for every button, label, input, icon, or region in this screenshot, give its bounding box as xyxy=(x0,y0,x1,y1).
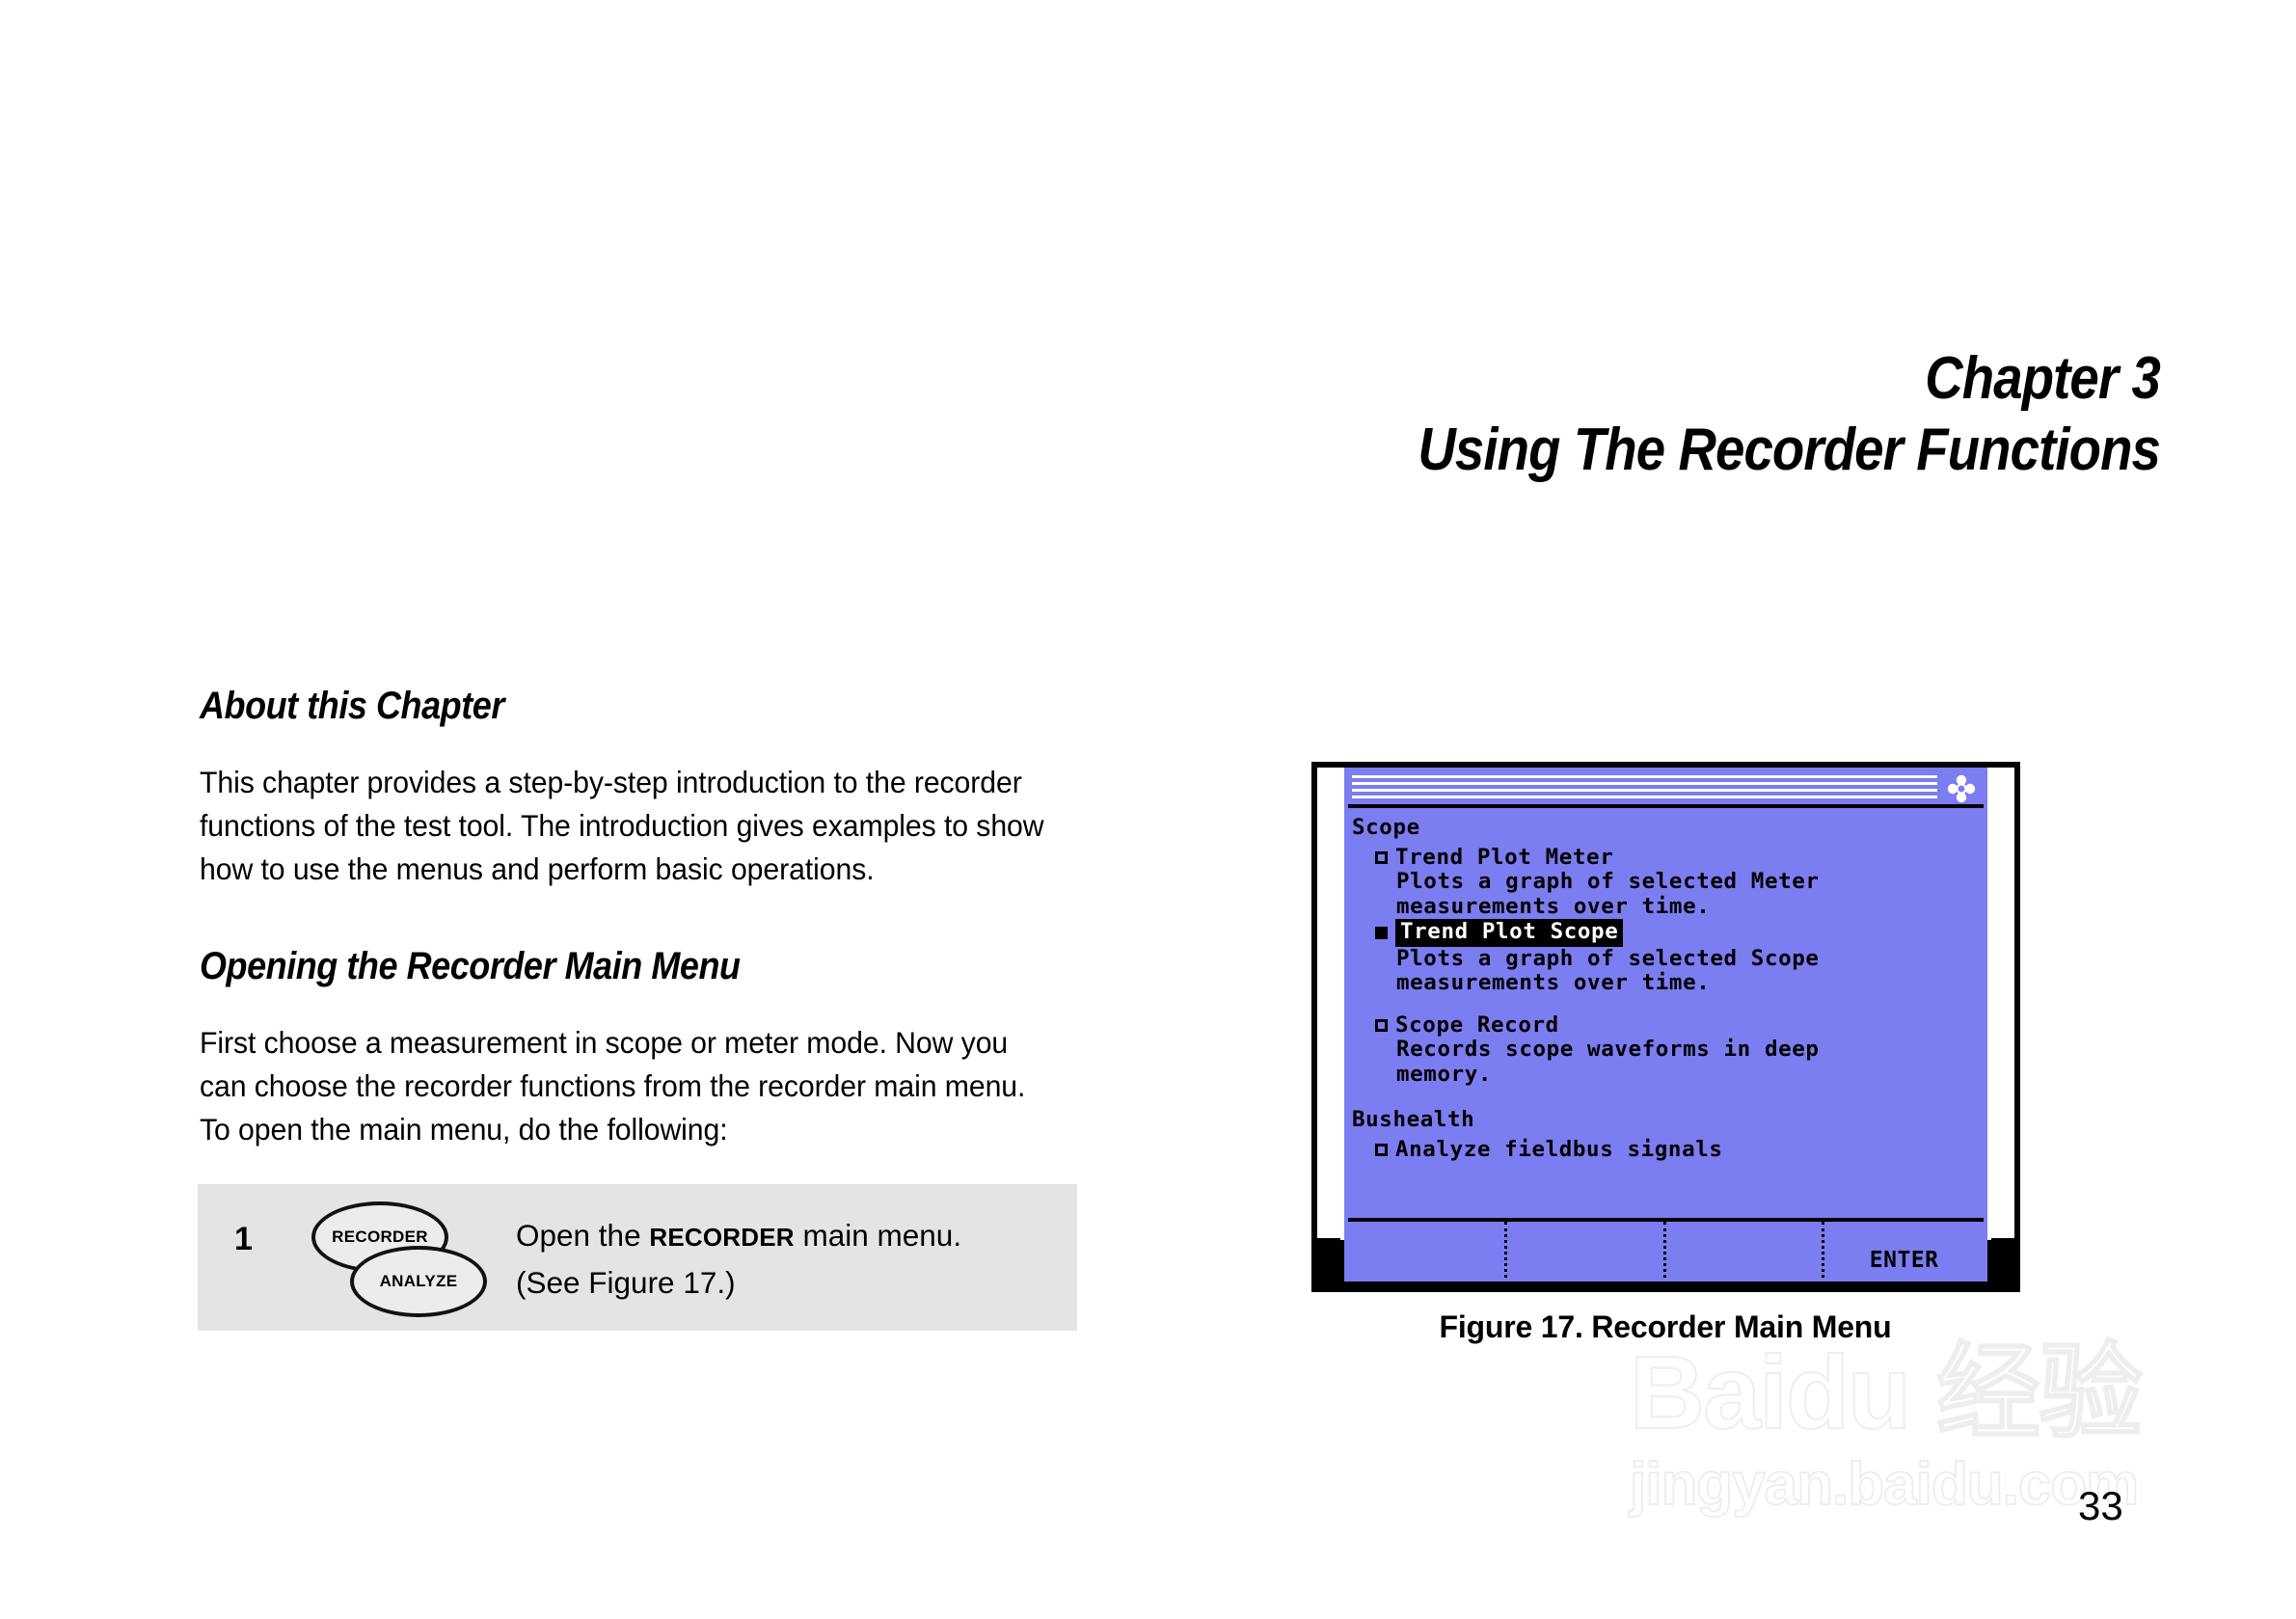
softkey-3[interactable] xyxy=(1666,1222,1825,1278)
body-text-column: About this Chapter This chapter provides… xyxy=(200,685,1087,1151)
lcd-menu-item-description-line: Plots a graph of selected Meter xyxy=(1396,870,1984,895)
radio-unselected-icon xyxy=(1375,851,1388,864)
lcd-spacer xyxy=(1348,1087,1984,1104)
lcd-menu-item-description-line: measurements over time. xyxy=(1396,895,1984,920)
lcd-group-title-scope: Scope xyxy=(1352,816,1984,841)
lcd-title-bar-stripes xyxy=(1352,775,1937,802)
radio-unselected-icon xyxy=(1375,1144,1388,1156)
heading-about-this-chapter: About this Chapter xyxy=(200,685,998,728)
softkey-enter[interactable]: ENTER xyxy=(1824,1222,1984,1278)
lcd-title-bar xyxy=(1348,771,1984,808)
lcd-menu-item-label: Scope Record xyxy=(1395,1013,1559,1039)
lcd-menu-item-label: Trend Plot Meter xyxy=(1395,846,1613,871)
lcd-softkey-bar: ENTER xyxy=(1348,1218,1984,1278)
step-instruction-keyname: RECORDER xyxy=(649,1223,794,1252)
paragraph-opening-the-recorder-main-menu: First choose a measurement in scope or m… xyxy=(200,1021,1051,1151)
lcd-menu-item-description-line: measurements over time. xyxy=(1396,971,1984,996)
figure-caption: Figure 17. Recorder Main Menu xyxy=(1285,1309,2045,1345)
lcd-right-margin xyxy=(1987,768,2014,1240)
step-number: 1 xyxy=(234,1221,253,1258)
lcd-menu-item-trend-plot-meter[interactable]: Trend Plot Meter xyxy=(1375,846,1984,871)
step-key-illustration: RECORDER ANALYZE xyxy=(302,1196,495,1321)
lcd-menu-item-scope-record[interactable]: Scope Record xyxy=(1375,1013,1984,1039)
lcd-group-title-bushealth: Bushealth xyxy=(1352,1108,1984,1133)
chapter-name: Using The Recorder Functions xyxy=(1023,418,2160,482)
figure-recorder-main-menu: Scope Trend Plot Meter Plots a graph of … xyxy=(1285,762,2045,1302)
lcd-menu-item-description-line: memory. xyxy=(1396,1063,1984,1088)
softkey-1[interactable] xyxy=(1348,1222,1507,1278)
step-instruction-text: Open the RECORDER main menu. (See Figure… xyxy=(516,1213,1056,1306)
lcd-menu-item-description-line: Records scope waveforms in deep xyxy=(1396,1038,1984,1063)
lcd-menu-item-analyze-fieldbus-signals[interactable]: Analyze fieldbus signals xyxy=(1375,1138,1984,1163)
lcd-menu-item-description-line: Plots a graph of selected Scope xyxy=(1396,947,1984,972)
lcd-menu-item-label: Analyze fieldbus signals xyxy=(1395,1138,1723,1163)
step-instruction-box: 1 RECORDER ANALYZE Open the RECORDER mai… xyxy=(198,1184,1077,1331)
lcd-screen: Scope Trend Plot Meter Plots a graph of … xyxy=(1344,768,1987,1282)
paragraph-about-this-chapter: This chapter provides a step-by-step int… xyxy=(200,761,1051,891)
radio-unselected-icon xyxy=(1375,1019,1388,1032)
lcd-menu-body: Scope Trend Plot Meter Plots a graph of … xyxy=(1348,812,1984,1198)
heading-opening-the-recorder-main-menu: Opening the Recorder Main Menu xyxy=(200,945,998,988)
chapter-number: Chapter 3 xyxy=(1023,347,2160,411)
step-instruction-suffix: main menu. xyxy=(795,1218,961,1253)
radio-selected-icon xyxy=(1375,927,1388,939)
lcd-menu-item-label-selected: Trend Plot Scope xyxy=(1395,919,1623,947)
lcd-spacer xyxy=(1348,996,1984,1013)
step-instruction-prefix: Open the xyxy=(516,1218,649,1253)
figure-corner-mark-bottom-right xyxy=(1991,1238,2020,1263)
watermark-logo-text: Baidu 经验 xyxy=(1630,1340,2170,1444)
lcd-left-margin xyxy=(1317,768,1344,1240)
softkey-label-enter: ENTER xyxy=(1870,1248,1939,1273)
softkey-2[interactable] xyxy=(1507,1222,1666,1278)
four-way-navigation-icon[interactable] xyxy=(1947,774,1976,803)
step-instruction-figure-ref: (See Figure 17.) xyxy=(516,1265,736,1300)
lcd-menu-item-trend-plot-scope[interactable]: Trend Plot Scope xyxy=(1375,919,1984,947)
page-number: 33 xyxy=(2078,1483,2123,1529)
page-title: Chapter 3 Using The Recorder Functions xyxy=(868,347,2160,481)
analyze-key-icon[interactable]: ANALYZE xyxy=(350,1246,487,1317)
figure-corner-mark-bottom-left xyxy=(1311,1238,1340,1263)
